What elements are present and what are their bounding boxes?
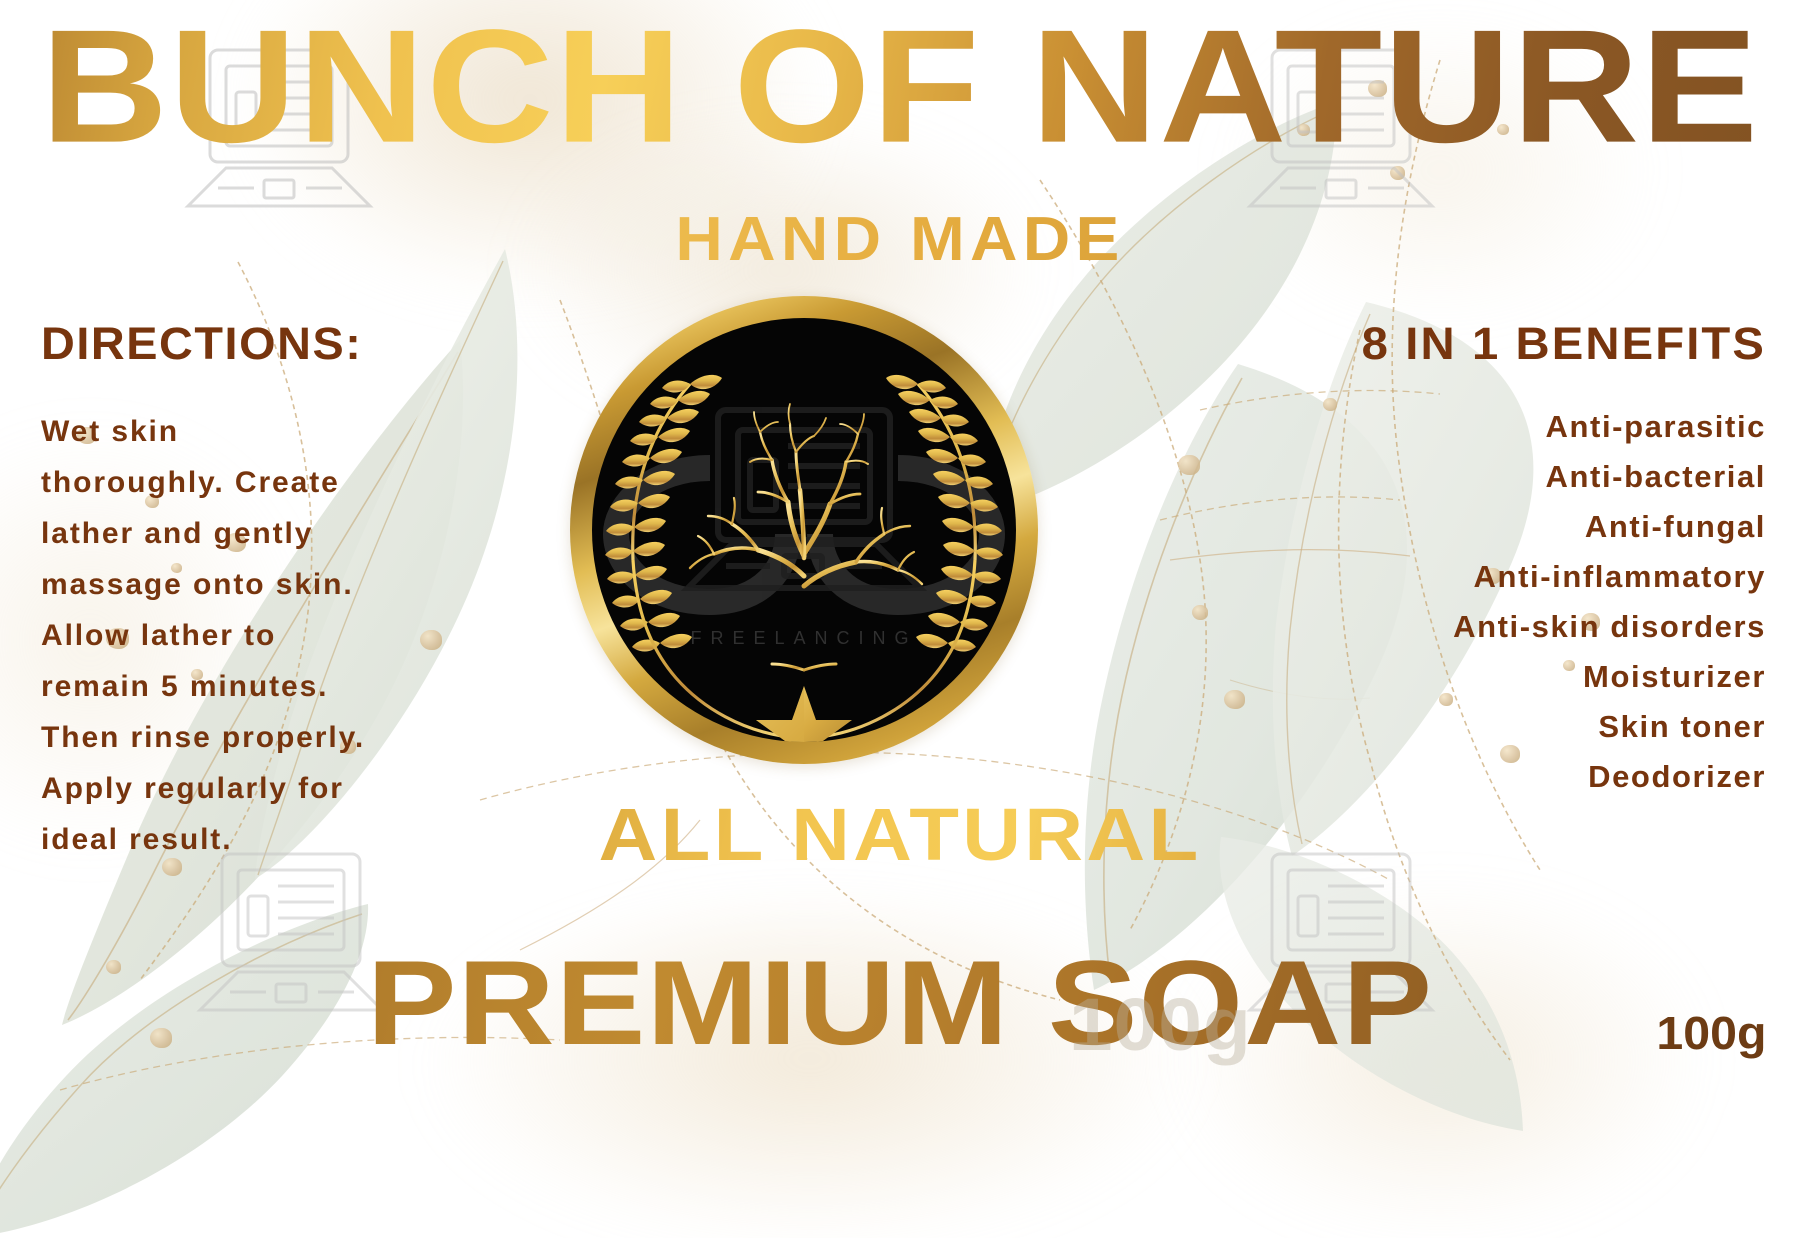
soap-label-canvas: BUNCH OF NATURE HAND MADE DIRECTIONS: We… <box>0 0 1800 1238</box>
list-item: Skin toner <box>1266 702 1766 752</box>
tagline-all-natural: ALL NATURAL <box>0 795 1800 875</box>
directions-section: DIRECTIONS: Wet skin thoroughly. Create … <box>41 318 461 865</box>
benefits-heading: 8 IN 1 BENEFITS <box>1241 318 1766 370</box>
benefits-list: Anti-parasitic Anti-bacterial Anti-funga… <box>1266 402 1766 802</box>
emblem-disc: FREELANCING <box>592 318 1016 742</box>
brand-emblem: FREELANCING <box>570 296 1038 764</box>
glitter-speck-icon <box>1224 690 1245 709</box>
product-name: PREMIUM SOAP <box>0 940 1800 1066</box>
list-item: Anti-bacterial <box>1266 452 1766 502</box>
directions-line: Allow lather to <box>41 610 461 661</box>
glitter-speck-icon <box>1192 605 1208 620</box>
directions-line: Wet skin <box>41 406 461 457</box>
weight-watermark: 100g <box>1069 982 1252 1067</box>
list-item: Anti-inflammatory <box>1266 552 1766 602</box>
directions-line: massage onto skin. <box>41 559 461 610</box>
directions-line: remain 5 minutes. <box>41 661 461 712</box>
page-title: BUNCH OF NATURE <box>0 6 1800 167</box>
directions-line: Then rinse properly. <box>41 712 461 763</box>
bare-tree-icon <box>690 404 922 670</box>
laurel-wreath-icon <box>605 375 782 736</box>
list-item: Anti-parasitic <box>1266 402 1766 452</box>
net-weight: 100g <box>1657 1006 1767 1060</box>
directions-line: lather and gently <box>41 508 461 559</box>
benefits-section: 8 IN 1 BENEFITS Anti-parasitic Anti-bact… <box>1266 318 1766 802</box>
list-item: Moisturizer <box>1266 652 1766 702</box>
emblem-artwork <box>592 318 1016 742</box>
list-item: Anti-fungal <box>1266 502 1766 552</box>
glitter-speck-icon <box>1178 455 1200 475</box>
list-item: Anti-skin disorders <box>1266 602 1766 652</box>
directions-line: thoroughly. Create <box>41 457 461 508</box>
subtitle-hand-made: HAND MADE <box>0 207 1800 273</box>
directions-heading: DIRECTIONS: <box>41 318 478 370</box>
